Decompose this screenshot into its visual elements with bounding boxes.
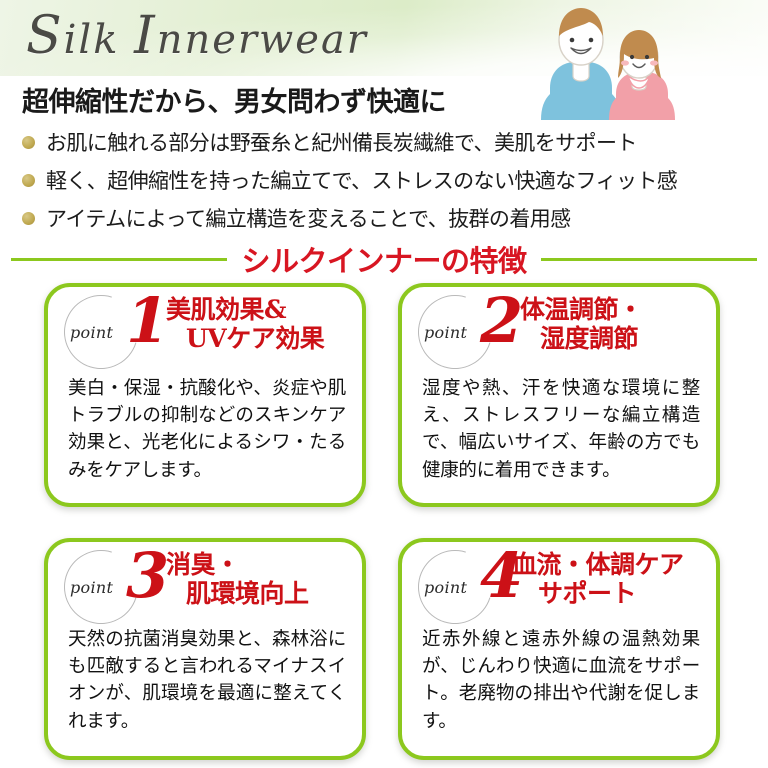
card-title: 体温調節・ 湿度調節 — [520, 295, 718, 353]
bullet-dot-icon — [22, 136, 35, 149]
brand-silk-rest: ilk — [64, 17, 135, 63]
card-header: point 1 美肌効果& UVケア効果 — [48, 287, 362, 373]
card-title-line1: 体温調節・ — [520, 295, 643, 324]
list-item: 軽く、超伸縮性を持った編立てで、ストレスのない快適なフィット感 — [22, 161, 762, 199]
feature-card-point-1: point 1 美肌効果& UVケア効果 美白・保湿・抗酸化や、炎症や肌トラブル… — [44, 283, 366, 507]
card-body-text: 近赤外線と遠赤外線の温熱効果が、じんわり快適に血流をサポート。老廃物の排出や代謝… — [422, 626, 700, 735]
brand-initial-i: I — [134, 6, 157, 66]
point-label: point — [70, 323, 113, 342]
feature-card-point-4: point 4 血流・体調ケア サポート 近赤外線と遠赤外線の温熱効果が、じんわ… — [398, 538, 720, 760]
brand-innerwear-rest: nnerwear — [157, 17, 368, 63]
bullet-text: アイテムによって編立構造を変えることで、抜群の着用感 — [46, 203, 571, 233]
card-header: point 2 体温調節・ 湿度調節 — [402, 287, 716, 373]
point-label: point — [70, 578, 113, 597]
point-label: point — [424, 578, 467, 597]
card-title-line2: UVケア効果 — [166, 324, 364, 353]
point-number: 3 — [126, 545, 169, 607]
point-label: point — [424, 323, 467, 342]
feature-card-point-3: point 3 消臭・ 肌環境向上 天然の抗菌消臭効果と、森林浴にも匹敵すると言… — [44, 538, 366, 760]
card-header: point 4 血流・体調ケア サポート — [402, 542, 716, 628]
list-item: お肌に触れる部分は野蚕糸と紀州備長炭繊維で、美肌をサポート — [22, 123, 762, 161]
section-banner: シルクインナーの特徴 — [0, 237, 768, 281]
bullet-text: お肌に触れる部分は野蚕糸と紀州備長炭繊維で、美肌をサポート — [46, 127, 637, 157]
card-title: 血流・体調ケア サポート — [512, 550, 718, 608]
bullet-dot-icon — [22, 212, 35, 225]
card-body-text: 湿度や熱、汗を快適な環境に整え、ストレスフリーな編立構造で、幅広いサイズ、年齢の… — [422, 375, 700, 484]
card-title: 美肌効果& UVケア効果 — [166, 295, 364, 353]
brand-initial-s: S — [26, 6, 64, 66]
banner-rule-left — [11, 258, 227, 261]
section-title: シルクインナーの特徴 — [241, 238, 526, 280]
card-title-line2: サポート — [512, 579, 718, 608]
brand-title: Silk Innerwear — [26, 6, 368, 66]
card-header: point 3 消臭・ 肌環境向上 — [48, 542, 362, 628]
card-title: 消臭・ 肌環境向上 — [166, 550, 364, 608]
card-title-line1: 消臭・ — [166, 550, 240, 579]
card-title-line1: 美肌効果& — [166, 295, 286, 324]
banner-rule-right — [541, 258, 757, 261]
page-headline: 超伸縮性だから、男女問わず快適に — [22, 80, 446, 119]
couple-illustration — [516, 2, 676, 126]
page-header: Silk Innerwear — [0, 0, 768, 76]
card-title-line1: 血流・体調ケア — [512, 550, 684, 579]
card-title-line2: 肌環境向上 — [166, 579, 364, 608]
list-item: アイテムによって編立構造を変えることで、抜群の着用感 — [22, 199, 762, 237]
bullet-dot-icon — [22, 174, 35, 187]
bullet-text: 軽く、超伸縮性を持った編立てで、ストレスのない快適なフィット感 — [46, 165, 677, 195]
card-body-text: 天然の抗菌消臭効果と、森林浴にも匹敵すると言われるマイナスイオンが、肌環境を最適… — [68, 626, 346, 735]
point-number: 2 — [480, 290, 523, 352]
point-number: 1 — [126, 290, 169, 352]
feature-card-point-2: point 2 体温調節・ 湿度調節 湿度や熱、汗を快適な環境に整え、ストレスフ… — [398, 283, 720, 507]
feature-bullet-list: お肌に触れる部分は野蚕糸と紀州備長炭繊維で、美肌をサポート 軽く、超伸縮性を持っ… — [22, 123, 762, 237]
card-title-line2: 湿度調節 — [520, 324, 718, 353]
card-body-text: 美白・保湿・抗酸化や、炎症や肌トラブルの抑制などのスキンケア効果と、光老化による… — [68, 375, 346, 484]
